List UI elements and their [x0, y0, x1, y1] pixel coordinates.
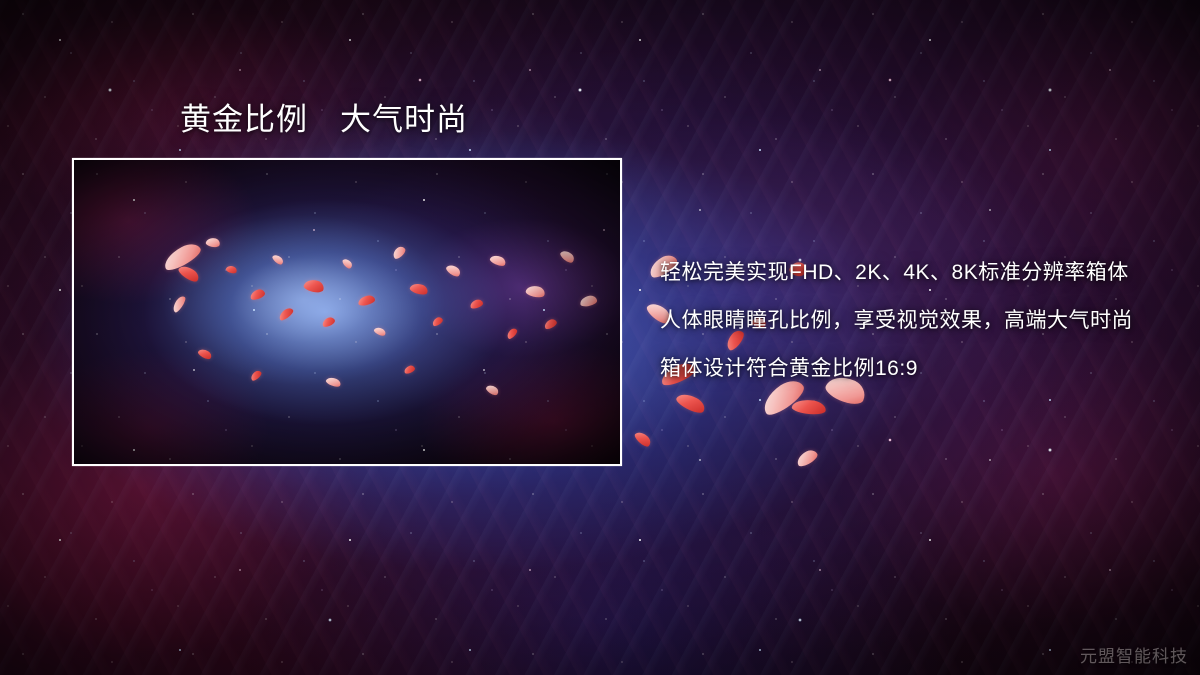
flower-petal [791, 398, 827, 417]
body-line-3: 箱体设计符合黄金比例16:9 [660, 352, 1180, 382]
body-line-2: 人体眼睛瞳孔比例，享受视觉效果，高端大气时尚 [660, 304, 1180, 334]
body-line-1: 轻松完美实现FHD、2K、4K、8K标准分辨率箱体 [660, 256, 1180, 286]
flower-petal [633, 429, 653, 449]
slide-canvas: 黄金比例 大气时尚 轻松完美实现FHD、2K、4K、8K标准分辨率箱体 人体眼睛… [0, 0, 1200, 675]
flower-petal [674, 390, 707, 416]
body-text-block: 轻松完美实现FHD、2K、4K、8K标准分辨率箱体 人体眼睛瞳孔比例，享受视觉效… [660, 256, 1180, 382]
photo-frame [72, 158, 622, 466]
watermark: 元盟智能科技 [1080, 642, 1188, 667]
photo-vignette [74, 160, 620, 464]
page-title: 黄金比例 大气时尚 [180, 100, 468, 140]
flower-petal [794, 448, 819, 469]
